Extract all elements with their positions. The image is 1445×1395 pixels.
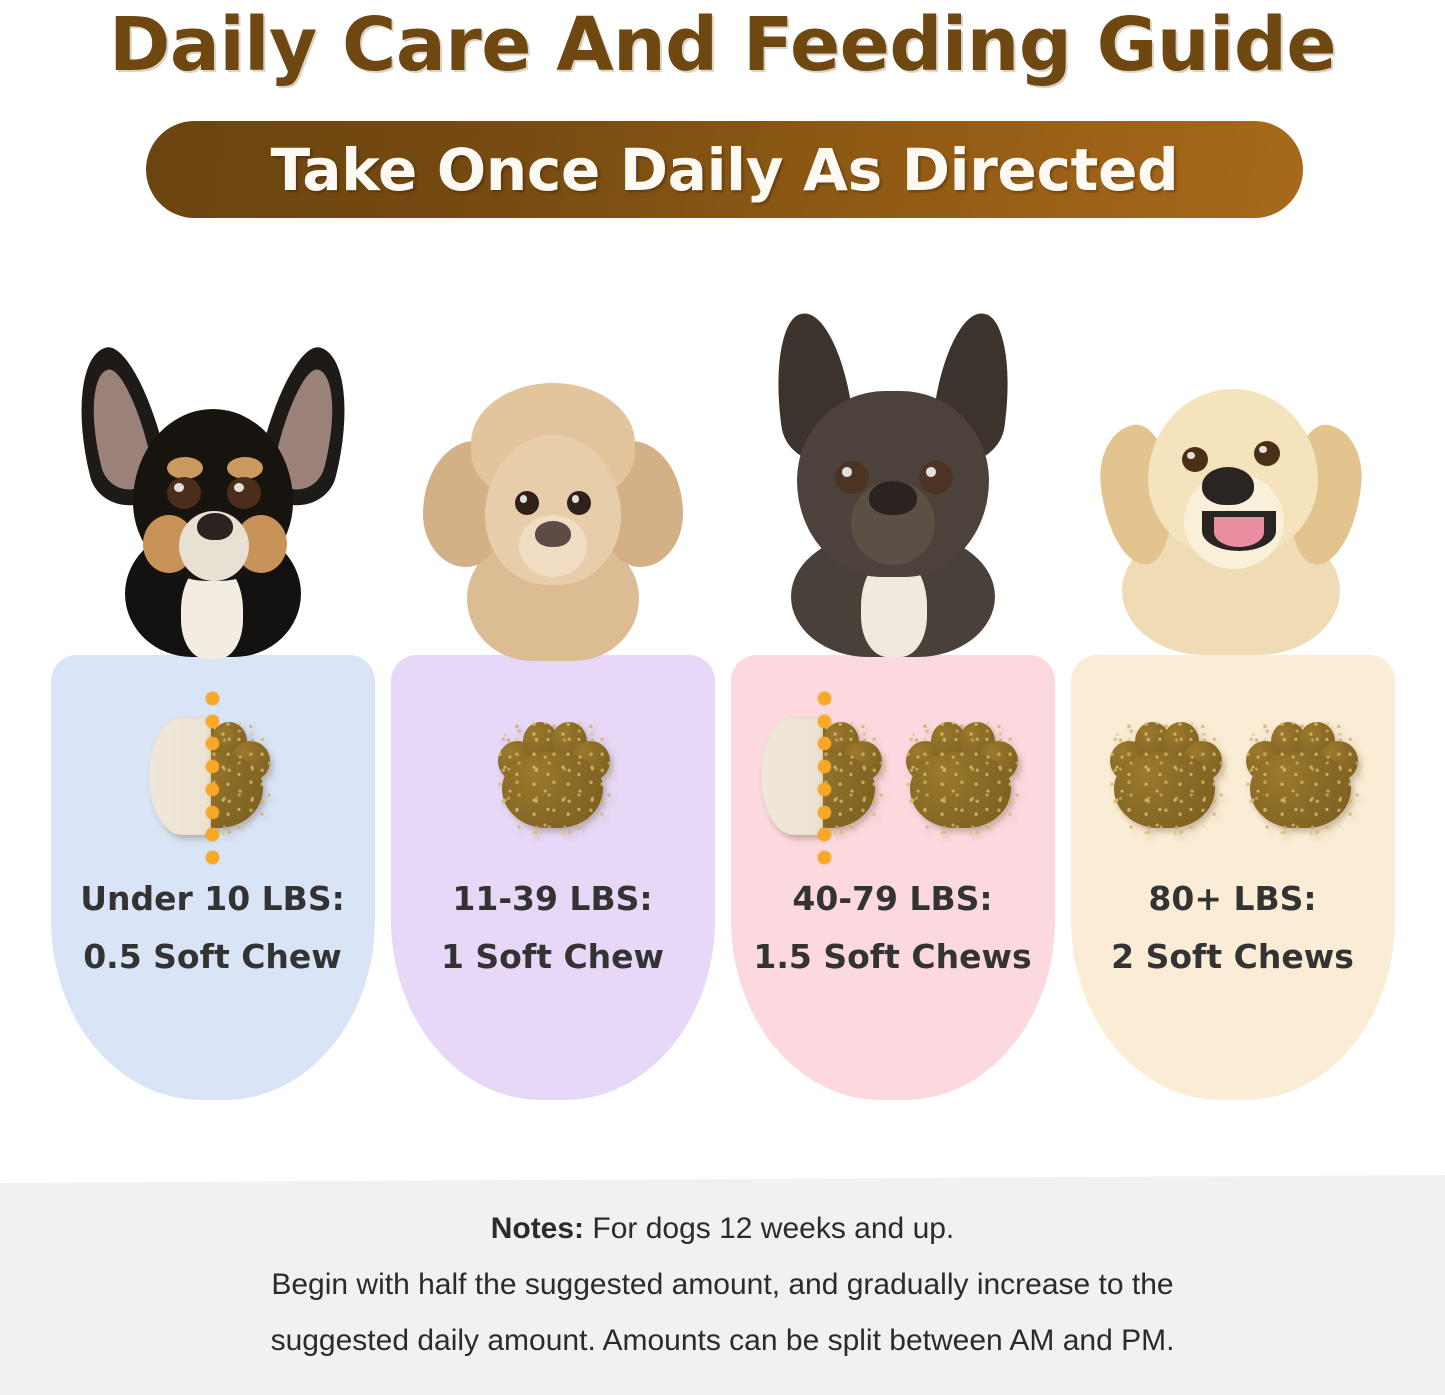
chew-half: [154, 717, 272, 835]
dosing-card-2[interactable]: 11-39 LBS: 1 Soft Chew: [391, 655, 715, 1100]
dog-ear-right: [1282, 422, 1366, 569]
dog-photo-french-bulldog: [723, 295, 1063, 655]
dose-label: 2 Soft Chews: [1071, 928, 1395, 986]
split-dot: [206, 806, 219, 819]
dosing-card-1[interactable]: Under 10 LBS: 0.5 Soft Chew: [51, 655, 375, 1100]
dosing-text-4: 80+ LBS: 2 Soft Chews: [1071, 870, 1395, 986]
dog-eye-right: [567, 491, 591, 515]
split-dot: [206, 760, 219, 773]
dosing-column-1: Under 10 LBS: 0.5 Soft Chew: [43, 300, 383, 1100]
dog-cheek-left: [143, 515, 195, 573]
chew-illustration-1: [51, 701, 375, 851]
split-dot: [818, 692, 831, 705]
page-title: Daily Care And Feeding Guide: [0, 2, 1445, 88]
chew-whole: [1106, 717, 1224, 835]
banner-label: Take Once Daily As Directed: [271, 141, 1179, 199]
chew-half-faded: [149, 717, 212, 835]
dog-cheek-right: [235, 515, 287, 573]
dog-brow-left: [167, 457, 203, 479]
dog-chest: [1122, 521, 1340, 655]
dose-label: 0.5 Soft Chew: [51, 928, 375, 986]
dog-ear-right: [597, 441, 683, 567]
weight-label: 11-39 LBS:: [452, 879, 652, 918]
dosing-card-grid: Under 10 LBS: 0.5 Soft Chew: [0, 300, 1445, 1100]
notes-label: Notes:: [491, 1212, 584, 1245]
split-dot: [818, 737, 831, 750]
split-dot: [206, 828, 219, 841]
chew-half: [766, 717, 884, 835]
dog-ear-left: [768, 309, 858, 467]
split-dot: [206, 737, 219, 750]
dog-nose: [869, 481, 917, 515]
notes-line-3: suggested daily amount. Amounts can be s…: [0, 1313, 1445, 1369]
dog-chest: [467, 531, 639, 661]
dog-brow-right: [227, 457, 263, 479]
split-dot: [206, 783, 219, 796]
chew-illustration-2: [391, 701, 715, 851]
chew-whole: [1242, 717, 1360, 835]
dog-ear-left: [1094, 422, 1178, 569]
split-dot: [206, 715, 219, 728]
dog-eye-right: [1254, 441, 1280, 466]
dog-nose: [1202, 467, 1254, 505]
split-dot: [818, 806, 831, 819]
dog-muzzle: [851, 481, 935, 565]
dog-chest: [125, 525, 301, 657]
dog-head: [485, 435, 621, 585]
paw-chew-icon: [902, 717, 1020, 835]
dose-label: 1 Soft Chew: [391, 928, 715, 986]
dosing-text-3: 40-79 LBS: 1.5 Soft Chews: [731, 870, 1055, 986]
dog-ear-right-inner: [268, 365, 346, 495]
weight-label: 80+ LBS:: [1148, 879, 1316, 918]
dog-nose: [197, 513, 233, 540]
notes-panel: Notes: For dogs 12 weeks and up. Begin w…: [0, 1175, 1445, 1395]
dog-head: [1148, 389, 1318, 557]
paw-chew-icon: [494, 717, 612, 835]
dog-chest-blaze: [181, 561, 243, 659]
notes-line-1: Notes: For dogs 12 weeks and up.: [0, 1201, 1445, 1257]
dog-photo-golden-retriever: [1063, 295, 1403, 655]
dog-chest: [791, 531, 995, 657]
dog-ear-left: [60, 340, 174, 514]
paw-chew-icon: [1106, 717, 1224, 835]
split-dot: [818, 783, 831, 796]
chew-illustration-4: [1071, 701, 1395, 851]
split-dot: [818, 715, 831, 728]
dosing-column-2: 11-39 LBS: 1 Soft Chew: [383, 300, 723, 1100]
feeding-guide-page: Daily Care And Feeding Guide Take Once D…: [0, 0, 1445, 1395]
chew-whole: [902, 717, 1020, 835]
split-dotted-line: [206, 692, 220, 864]
split-dot: [206, 692, 219, 705]
dosing-column-4: 80+ LBS: 2 Soft Chews: [1063, 300, 1403, 1100]
dog-eye-left: [835, 461, 869, 494]
notes-line-2: Begin with half the suggested amount, an…: [0, 1257, 1445, 1313]
dog-head: [797, 391, 989, 577]
split-dot: [818, 851, 831, 864]
weight-label: Under 10 LBS:: [80, 879, 345, 918]
dose-label: 1.5 Soft Chews: [731, 928, 1055, 986]
split-dotted-line: [818, 692, 832, 864]
dog-photo-poodle: [383, 295, 723, 655]
directions-banner: Take Once Daily As Directed: [146, 121, 1303, 218]
dog-ear-right: [928, 309, 1018, 467]
chew-illustration-3: [731, 701, 1055, 851]
dog-muzzle: [1184, 473, 1284, 569]
notes-text: Notes: For dogs 12 weeks and up. Begin w…: [0, 1201, 1445, 1369]
dog-eye-right: [227, 477, 261, 509]
notes-line-1-rest: For dogs 12 weeks and up.: [584, 1212, 954, 1245]
dog-head: [133, 409, 293, 581]
dog-eye-right: [919, 461, 953, 494]
split-dot: [818, 760, 831, 773]
dog-photo-chihuahua: [43, 295, 383, 655]
split-dot: [818, 828, 831, 841]
dog-muzzle: [519, 515, 587, 577]
dosing-text-2: 11-39 LBS: 1 Soft Chew: [391, 870, 715, 986]
split-dot: [206, 851, 219, 864]
paw-chew-icon: [1242, 717, 1360, 835]
dosing-column-3: 40-79 LBS: 1.5 Soft Chews: [723, 300, 1063, 1100]
dog-ear-left-inner: [78, 365, 156, 495]
dog-ear-right: [250, 340, 364, 514]
chew-half-faded: [761, 717, 824, 835]
dog-muzzle: [179, 511, 249, 581]
dog-topknot: [471, 383, 635, 503]
dog-tongue: [1214, 517, 1264, 547]
weight-label: 40-79 LBS:: [792, 879, 992, 918]
dog-nose: [535, 521, 571, 547]
chew-whole: [494, 717, 612, 835]
dog-eye-left: [1182, 447, 1208, 472]
dog-ear-left: [423, 441, 509, 567]
dosing-card-4[interactable]: 80+ LBS: 2 Soft Chews: [1071, 655, 1395, 1100]
dog-mouth: [1202, 511, 1276, 551]
dosing-text-1: Under 10 LBS: 0.5 Soft Chew: [51, 870, 375, 986]
dosing-card-3[interactable]: 40-79 LBS: 1.5 Soft Chews: [731, 655, 1055, 1100]
dog-eye-left: [167, 477, 201, 509]
dog-chest-blaze: [861, 555, 927, 657]
dog-eye-left: [515, 491, 539, 515]
